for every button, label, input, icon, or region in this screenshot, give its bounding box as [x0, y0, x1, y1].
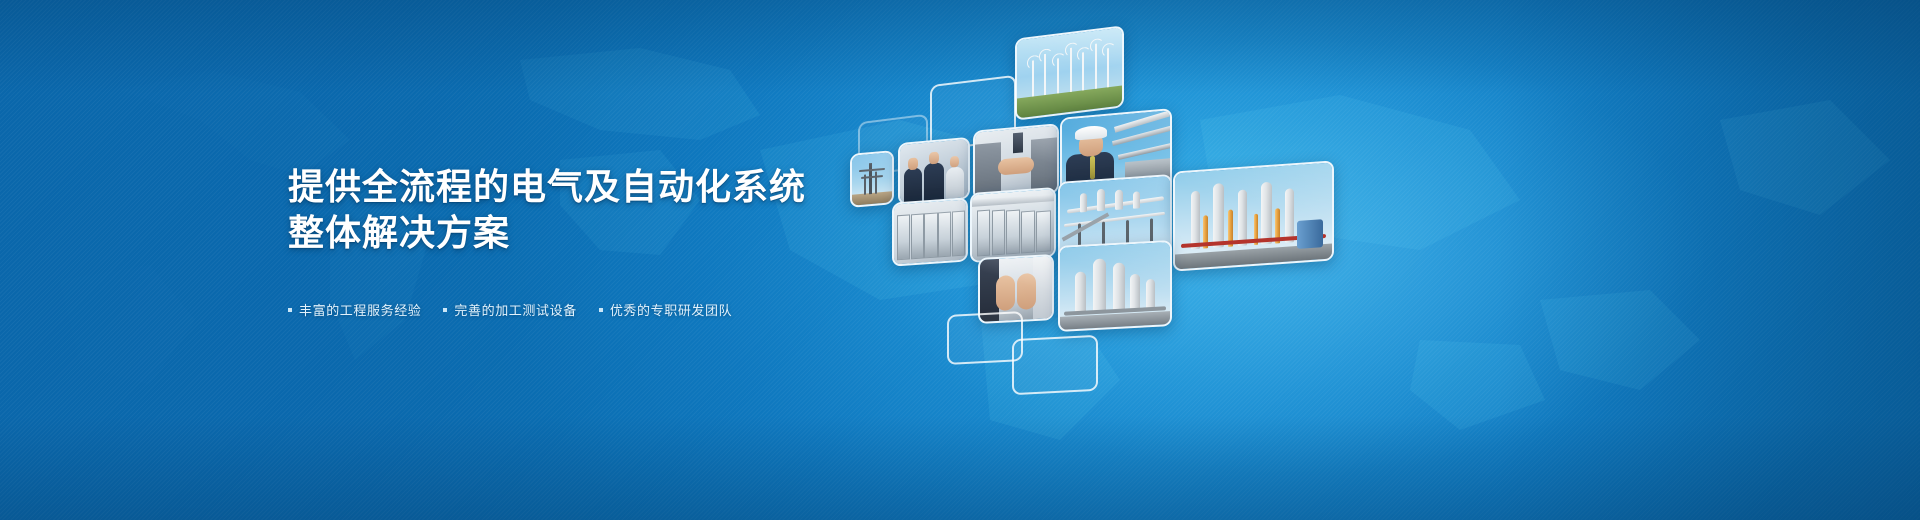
bullet-dot-icon	[443, 308, 447, 312]
bullet-dot-icon	[599, 308, 603, 312]
electrical-control-cabinets-photo	[894, 199, 966, 264]
banner-copy: 提供全流程的电气及自动化系统 整体解决方案 丰富的工程服务经验 完善的加工测试设…	[288, 140, 888, 319]
power-transmission-tower-photo	[852, 152, 892, 205]
tile-control-cabinets	[892, 197, 968, 266]
feature-bullet-2-label: 完善的加工测试设备	[454, 300, 576, 319]
oil-refinery-photo	[1175, 163, 1332, 270]
feature-bullet-3-label: 优秀的专职研发团队	[610, 300, 732, 319]
tile-refinery-large	[1173, 160, 1334, 271]
business-team-photo	[900, 139, 968, 203]
tile-transmission	[850, 150, 894, 208]
tile-gas-plant	[1058, 240, 1172, 332]
photo-collage	[830, 0, 1920, 520]
feature-bullet-2: 完善的加工测试设备	[443, 300, 576, 319]
tile-empty-bottom-r	[1012, 335, 1098, 396]
headline-line-1: 提供全流程的电气及自动化系统	[288, 164, 888, 210]
page-title: 提供全流程的电气及自动化系统 整体解决方案	[288, 164, 888, 256]
bullet-dot-icon	[288, 308, 292, 312]
feature-bullet-1: 丰富的工程服务经验	[288, 300, 421, 319]
feature-bullet-3: 优秀的专职研发团队	[599, 300, 732, 319]
gas-storage-plant-photo	[1060, 242, 1170, 330]
tile-switchgear-room	[970, 187, 1056, 263]
switchgear-room-photo	[972, 189, 1054, 261]
feature-bullet-1-label: 丰富的工程服务经验	[299, 300, 421, 319]
headline-line-2: 整体解决方案	[288, 210, 888, 256]
tile-wind-farm	[1015, 25, 1124, 120]
wind-turbine-farm-photo	[1017, 28, 1122, 119]
feature-bullets: 丰富的工程服务经验 完善的加工测试设备 优秀的专职研发团队	[288, 300, 888, 319]
hero-banner: 提供全流程的电气及自动化系统 整体解决方案 丰富的工程服务经验 完善的加工测试设…	[0, 0, 1920, 520]
tile-business-team	[898, 137, 970, 205]
